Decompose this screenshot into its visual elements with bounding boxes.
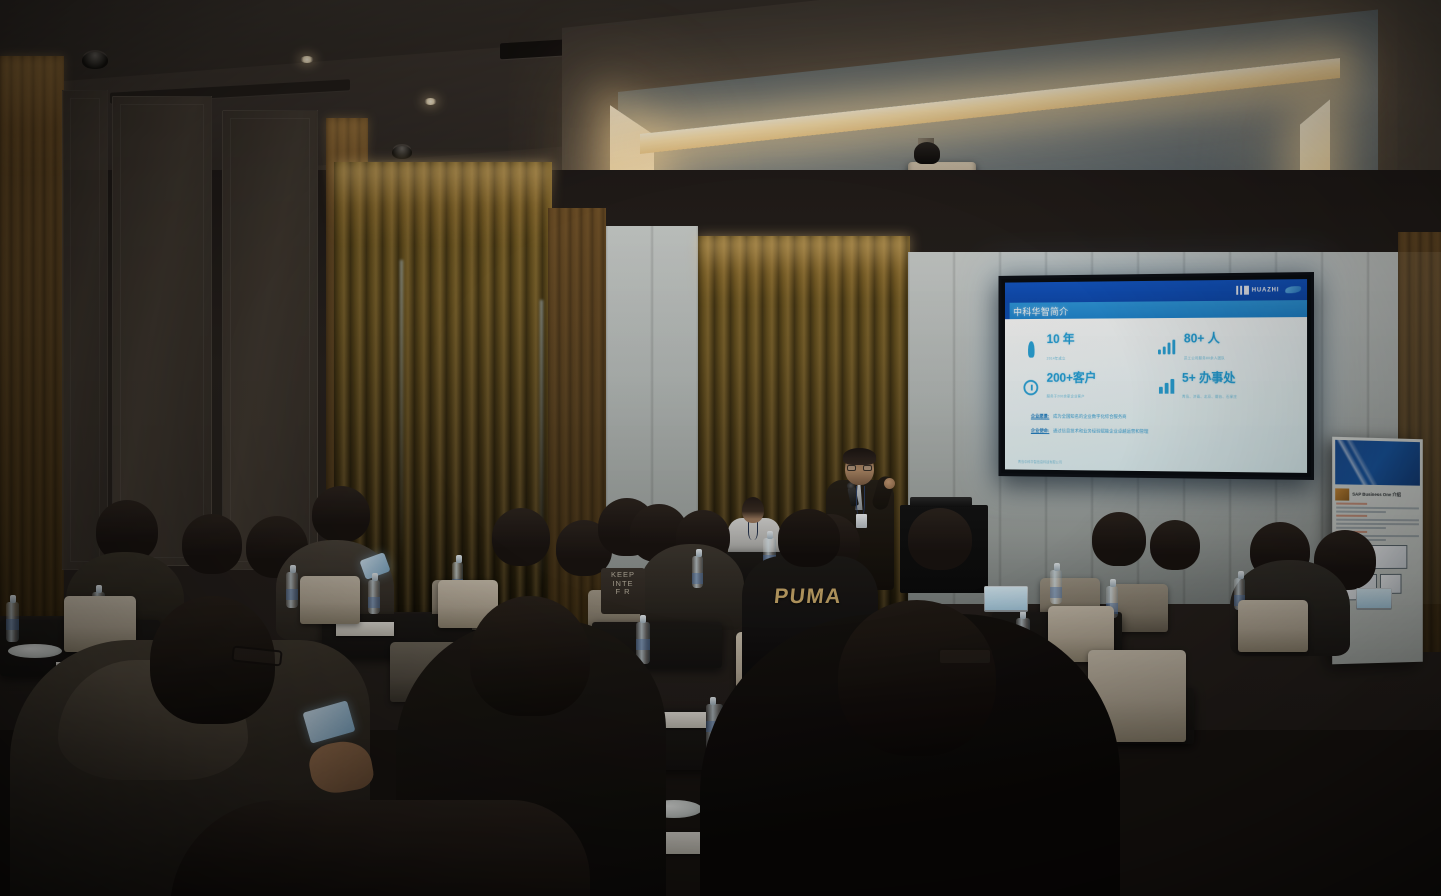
poster-title-row: SAP Business One 介绍 bbox=[1335, 488, 1420, 501]
presenter-lanyard bbox=[856, 486, 865, 516]
slide-footer: 青岛中科华智信息科技有限公司 bbox=[1016, 456, 1295, 469]
presenter-glasses-icon bbox=[847, 465, 872, 471]
stat-years-value: 10 年 bbox=[1047, 332, 1075, 346]
wall-panel-2 bbox=[222, 110, 318, 570]
audience-head-4 bbox=[312, 486, 370, 542]
foreground-head-center bbox=[470, 596, 590, 716]
water-bottle-9 bbox=[1050, 570, 1062, 604]
poster-text-line-2 bbox=[1336, 511, 1386, 513]
foreground-glasses-icon-right bbox=[938, 648, 992, 665]
downlight-3 bbox=[424, 98, 437, 105]
stat-customers-sub: 服务于200余家企业客户 bbox=[1047, 395, 1085, 399]
water-bottle-3 bbox=[286, 572, 298, 608]
logo-wordmark: HUAZHI bbox=[1252, 287, 1280, 293]
stat-customers: 200+客户 服务于200余家企业客户 bbox=[1022, 370, 1153, 403]
foreground-head-right bbox=[838, 600, 996, 756]
curtain-uplight-left bbox=[334, 162, 552, 242]
keep-shirt-attendee: KEEP INTE F R bbox=[601, 568, 645, 614]
presenter-badge bbox=[856, 514, 867, 528]
poster-text-line-1 bbox=[1336, 507, 1419, 510]
callout-mission-text: 通过信息技术和业务经验赋能企业卓越运营和管理 bbox=[1053, 428, 1148, 435]
slide-callout-vision: 企业愿景: 成为全国知名的企业数字化综合服务商 bbox=[1031, 411, 1280, 424]
slide-body: 10 年 2014年成立 80+ 人 员工公司服务80余人团队 bbox=[1005, 317, 1307, 473]
wall-panel-1 bbox=[112, 96, 212, 566]
laptop-1 bbox=[984, 586, 1028, 612]
foreground-silhouette-bottom bbox=[170, 800, 590, 896]
clock-icon bbox=[1022, 376, 1041, 395]
callout-vision-label: 企业愿景: bbox=[1031, 414, 1050, 420]
person-icon bbox=[1022, 338, 1041, 357]
water-bottle-4 bbox=[368, 580, 380, 614]
slide-title-band: 中科华智简介 bbox=[1005, 300, 1307, 319]
stat-staff: 80+ 人 员工公司服务80余人团队 bbox=[1158, 330, 1293, 364]
stat-offices-sub: 青岛、济南、北京、烟台、石家庄 bbox=[1182, 395, 1237, 399]
audience-head-12 bbox=[1092, 512, 1146, 566]
puma-wordmark: PUMA bbox=[770, 586, 846, 608]
keep-line-3: F R bbox=[615, 588, 630, 596]
stat-staff-sub: 员工公司服务80余人团队 bbox=[1184, 356, 1225, 360]
logo-swoosh-icon bbox=[1285, 286, 1301, 293]
poster-badge-icon bbox=[1335, 488, 1349, 500]
slide-title: 中科华智简介 bbox=[1013, 304, 1068, 318]
poster-text-line-3 bbox=[1336, 519, 1419, 522]
audience-head-5 bbox=[492, 508, 550, 566]
poster-header-banner bbox=[1335, 440, 1420, 486]
stat-years: 10 年 2014年成立 bbox=[1022, 331, 1153, 364]
keep-line-2: INTE bbox=[612, 580, 633, 588]
handout-paper-2 bbox=[336, 622, 394, 636]
slide-topbar: HUAZHI bbox=[1005, 279, 1307, 303]
chair-2 bbox=[300, 576, 360, 624]
chart-up-icon bbox=[1158, 340, 1177, 355]
keep-line-1: KEEP bbox=[611, 571, 635, 579]
poster-text-line-5 bbox=[1336, 527, 1386, 529]
audience-head-13 bbox=[1150, 520, 1200, 570]
stat-years-sub: 2014年成立 bbox=[1047, 356, 1066, 360]
downlight-2 bbox=[300, 56, 314, 63]
poster-title: SAP Business One 介绍 bbox=[1352, 492, 1401, 499]
poster-divider-2 bbox=[1336, 515, 1367, 517]
presenter-hair bbox=[843, 448, 876, 465]
stat-offices: 5+ 办事处 青岛、济南、北京、烟台、石家庄 bbox=[1158, 370, 1293, 404]
projection-screen: HUAZHI 中科华智简介 10 年 2014年成立 bbox=[999, 272, 1314, 480]
slide-stats-grid: 10 年 2014年成立 80+ 人 员工公司服务80余人团队 bbox=[1016, 326, 1295, 409]
wood-uplight-glow-1 bbox=[0, 56, 64, 176]
security-camera-icon bbox=[82, 52, 108, 69]
slide-callout-mission: 企业使命: 通过信息技术和业务经验赋能企业卓越运营和管理 bbox=[1031, 425, 1280, 438]
callout-vision-text: 成为全国知名的企业数字化综合服务商 bbox=[1053, 414, 1126, 420]
wall-panel-0 bbox=[62, 90, 108, 570]
water-bottle-6 bbox=[692, 556, 703, 588]
laptop-2 bbox=[1356, 588, 1392, 610]
water-bottle-2 bbox=[6, 602, 19, 642]
plate-1 bbox=[8, 644, 62, 658]
seated-host-head bbox=[742, 497, 764, 523]
callout-mission-label: 企业使命: bbox=[1031, 428, 1050, 434]
poster-divider-1 bbox=[1336, 502, 1367, 504]
slide-surface: HUAZHI 中科华智简介 10 年 2014年成立 bbox=[1005, 279, 1307, 473]
bar-chart-icon bbox=[1158, 378, 1175, 394]
poster-text-line-4 bbox=[1336, 523, 1419, 526]
stat-customers-value: 200+客户 bbox=[1047, 371, 1097, 385]
logo-mark-icon bbox=[1236, 286, 1249, 295]
puma-attendee-head bbox=[778, 509, 840, 567]
presenter-hand bbox=[884, 478, 895, 489]
curtain-uplight-center bbox=[698, 236, 910, 302]
security-camera-icon-2 bbox=[392, 146, 412, 159]
seated-host-lanyard bbox=[748, 520, 758, 540]
curtain-light-gap-1 bbox=[400, 260, 403, 560]
audience-head-2 bbox=[182, 514, 242, 574]
chair-8 bbox=[1238, 600, 1308, 652]
stat-offices-value: 5+ 办事处 bbox=[1182, 371, 1236, 385]
conference-room-photo: HUAZHI 中科华智简介 10 年 2014年成立 bbox=[0, 0, 1441, 896]
company-logo: HUAZHI bbox=[1236, 285, 1301, 295]
audience-head-11 bbox=[908, 508, 972, 570]
stat-staff-value: 80+ 人 bbox=[1184, 332, 1220, 346]
